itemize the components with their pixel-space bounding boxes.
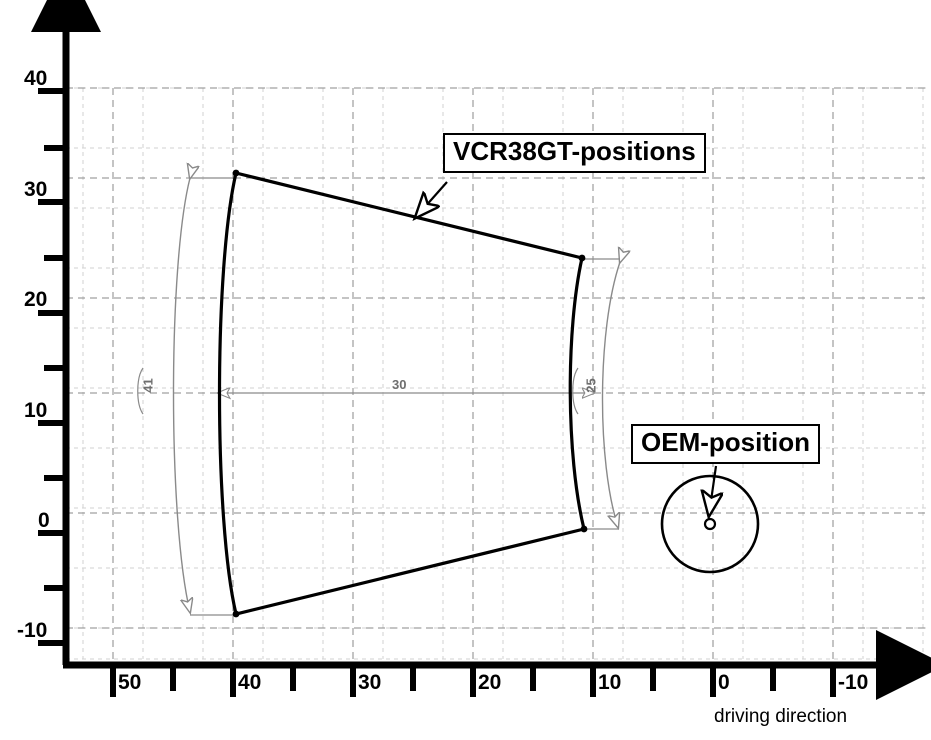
y-tick-label-10: 10 (24, 400, 47, 421)
oem-position-circle (662, 476, 758, 572)
x-tick-label-10: 10 (598, 672, 621, 693)
x-axis-label: driving direction (714, 706, 847, 728)
dimension-label-width: 30 (392, 377, 406, 392)
grid-minor-vertical (83, 88, 923, 659)
technical-drawing-figure: 40 30 20 10 0 -10 50 40 30 20 10 0 -10 d… (0, 0, 931, 740)
y-axis-ticks (38, 91, 66, 643)
dimension-label-right-radius: 25 (584, 378, 599, 392)
y-tick-label-30: 30 (24, 179, 47, 200)
x-tick-label-50: 50 (118, 672, 141, 693)
drawing-canvas (0, 0, 931, 740)
dimension-label-left-radius: 41 (141, 378, 156, 392)
x-tick-label-0: 0 (718, 672, 730, 693)
y-tick-label-40: 40 (24, 68, 47, 89)
callout-leader-vcr (416, 182, 447, 217)
x-tick-label-20: 20 (478, 672, 501, 693)
callout-oem-position[interactable]: OEM-position (631, 424, 820, 464)
x-tick-label-minus10: -10 (838, 672, 868, 693)
grid-minor-horizontal (66, 88, 928, 659)
y-tick-label-minus10: -10 (17, 620, 47, 641)
construction-arc-left (138, 178, 236, 615)
construction-arc-right (573, 259, 620, 529)
callout-vcr38gt-positions[interactable]: VCR38GT-positions (443, 133, 706, 173)
x-tick-label-40: 40 (238, 672, 261, 693)
x-tick-label-30: 30 (358, 672, 381, 693)
y-tick-label-20: 20 (24, 289, 47, 310)
y-tick-label-0: 0 (38, 510, 50, 531)
